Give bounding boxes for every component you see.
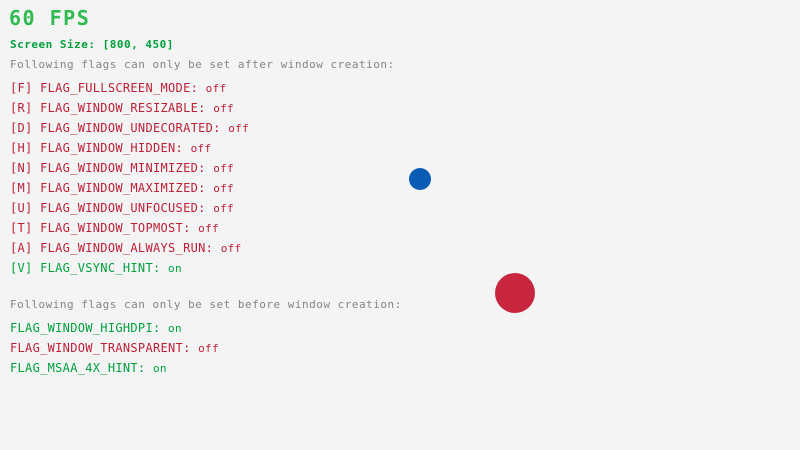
after-creation-flag-row[interactable]: [D] FLAG_WINDOW_UNDECORATED: off <box>10 119 249 135</box>
flag-state-value: off <box>198 222 219 235</box>
flag-shortcut-key: [V] <box>10 261 40 275</box>
flag-name-label: FLAG_FULLSCREEN_MODE: <box>40 81 206 95</box>
flag-name-label: FLAG_WINDOW_TRANSPARENT: <box>10 341 198 355</box>
flag-name-label: FLAG_WINDOW_UNDECORATED: <box>40 121 228 135</box>
after-creation-flag-row[interactable]: [T] FLAG_WINDOW_TOPMOST: off <box>10 219 219 235</box>
screen-size-label: Screen Size: [800, 450] <box>10 39 174 50</box>
before-creation-section-header: Following flags can only be set before w… <box>10 299 402 310</box>
flag-shortcut-key: [U] <box>10 201 40 215</box>
flag-state-value: off <box>206 82 227 95</box>
blue-ball <box>409 168 431 190</box>
flag-state-value: off <box>191 142 212 155</box>
flag-state-value: off <box>213 102 234 115</box>
flag-state-value: on <box>153 362 167 375</box>
flag-shortcut-key: [A] <box>10 241 40 255</box>
red-ball <box>495 273 535 313</box>
flag-state-value: off <box>213 182 234 195</box>
flag-name-label: FLAG_WINDOW_TOPMOST: <box>40 221 198 235</box>
flag-shortcut-key: [R] <box>10 101 40 115</box>
after-creation-flag-row[interactable]: [H] FLAG_WINDOW_HIDDEN: off <box>10 139 211 155</box>
flag-state-value: off <box>213 202 234 215</box>
raylib-window-canvas[interactable]: 60 FPS Screen Size: [800, 450] Following… <box>0 0 800 450</box>
flag-shortcut-key: [H] <box>10 141 40 155</box>
flag-name-label: FLAG_WINDOW_MINIMIZED: <box>40 161 213 175</box>
flag-state-value: off <box>198 342 219 355</box>
after-creation-flag-row[interactable]: [F] FLAG_FULLSCREEN_MODE: off <box>10 79 226 95</box>
before-creation-flag-row[interactable]: FLAG_WINDOW_TRANSPARENT: off <box>10 339 219 355</box>
flag-name-label: FLAG_WINDOW_RESIZABLE: <box>40 101 213 115</box>
flag-state-value: off <box>228 122 249 135</box>
flag-name-label: FLAG_MSAA_4X_HINT: <box>10 361 153 375</box>
flag-name-label: FLAG_WINDOW_UNFOCUSED: <box>40 201 213 215</box>
after-creation-flag-row[interactable]: [M] FLAG_WINDOW_MAXIMIZED: off <box>10 179 234 195</box>
flag-state-value: off <box>221 242 242 255</box>
flag-state-value: on <box>168 262 182 275</box>
flag-state-value: off <box>213 162 234 175</box>
flag-shortcut-key: [D] <box>10 121 40 135</box>
fps-counter: 60 FPS <box>9 8 90 28</box>
after-creation-flag-row[interactable]: [U] FLAG_WINDOW_UNFOCUSED: off <box>10 199 234 215</box>
flag-name-label: FLAG_VSYNC_HINT: <box>40 261 168 275</box>
flag-name-label: FLAG_WINDOW_MAXIMIZED: <box>40 181 213 195</box>
before-creation-flag-row[interactable]: FLAG_MSAA_4X_HINT: on <box>10 359 167 375</box>
flag-shortcut-key: [F] <box>10 81 40 95</box>
flag-name-label: FLAG_WINDOW_HIGHDPI: <box>10 321 168 335</box>
flag-shortcut-key: [M] <box>10 181 40 195</box>
after-creation-flag-row[interactable]: [V] FLAG_VSYNC_HINT: on <box>10 259 182 275</box>
flag-shortcut-key: [T] <box>10 221 40 235</box>
flag-name-label: FLAG_WINDOW_HIDDEN: <box>40 141 191 155</box>
after-creation-flag-row[interactable]: [A] FLAG_WINDOW_ALWAYS_RUN: off <box>10 239 241 255</box>
flag-shortcut-key: [N] <box>10 161 40 175</box>
after-creation-flag-row[interactable]: [N] FLAG_WINDOW_MINIMIZED: off <box>10 159 234 175</box>
flag-name-label: FLAG_WINDOW_ALWAYS_RUN: <box>40 241 221 255</box>
after-creation-flag-row[interactable]: [R] FLAG_WINDOW_RESIZABLE: off <box>10 99 234 115</box>
flag-state-value: on <box>168 322 182 335</box>
after-creation-section-header: Following flags can only be set after wi… <box>10 59 395 70</box>
before-creation-flag-row[interactable]: FLAG_WINDOW_HIGHDPI: on <box>10 319 182 335</box>
